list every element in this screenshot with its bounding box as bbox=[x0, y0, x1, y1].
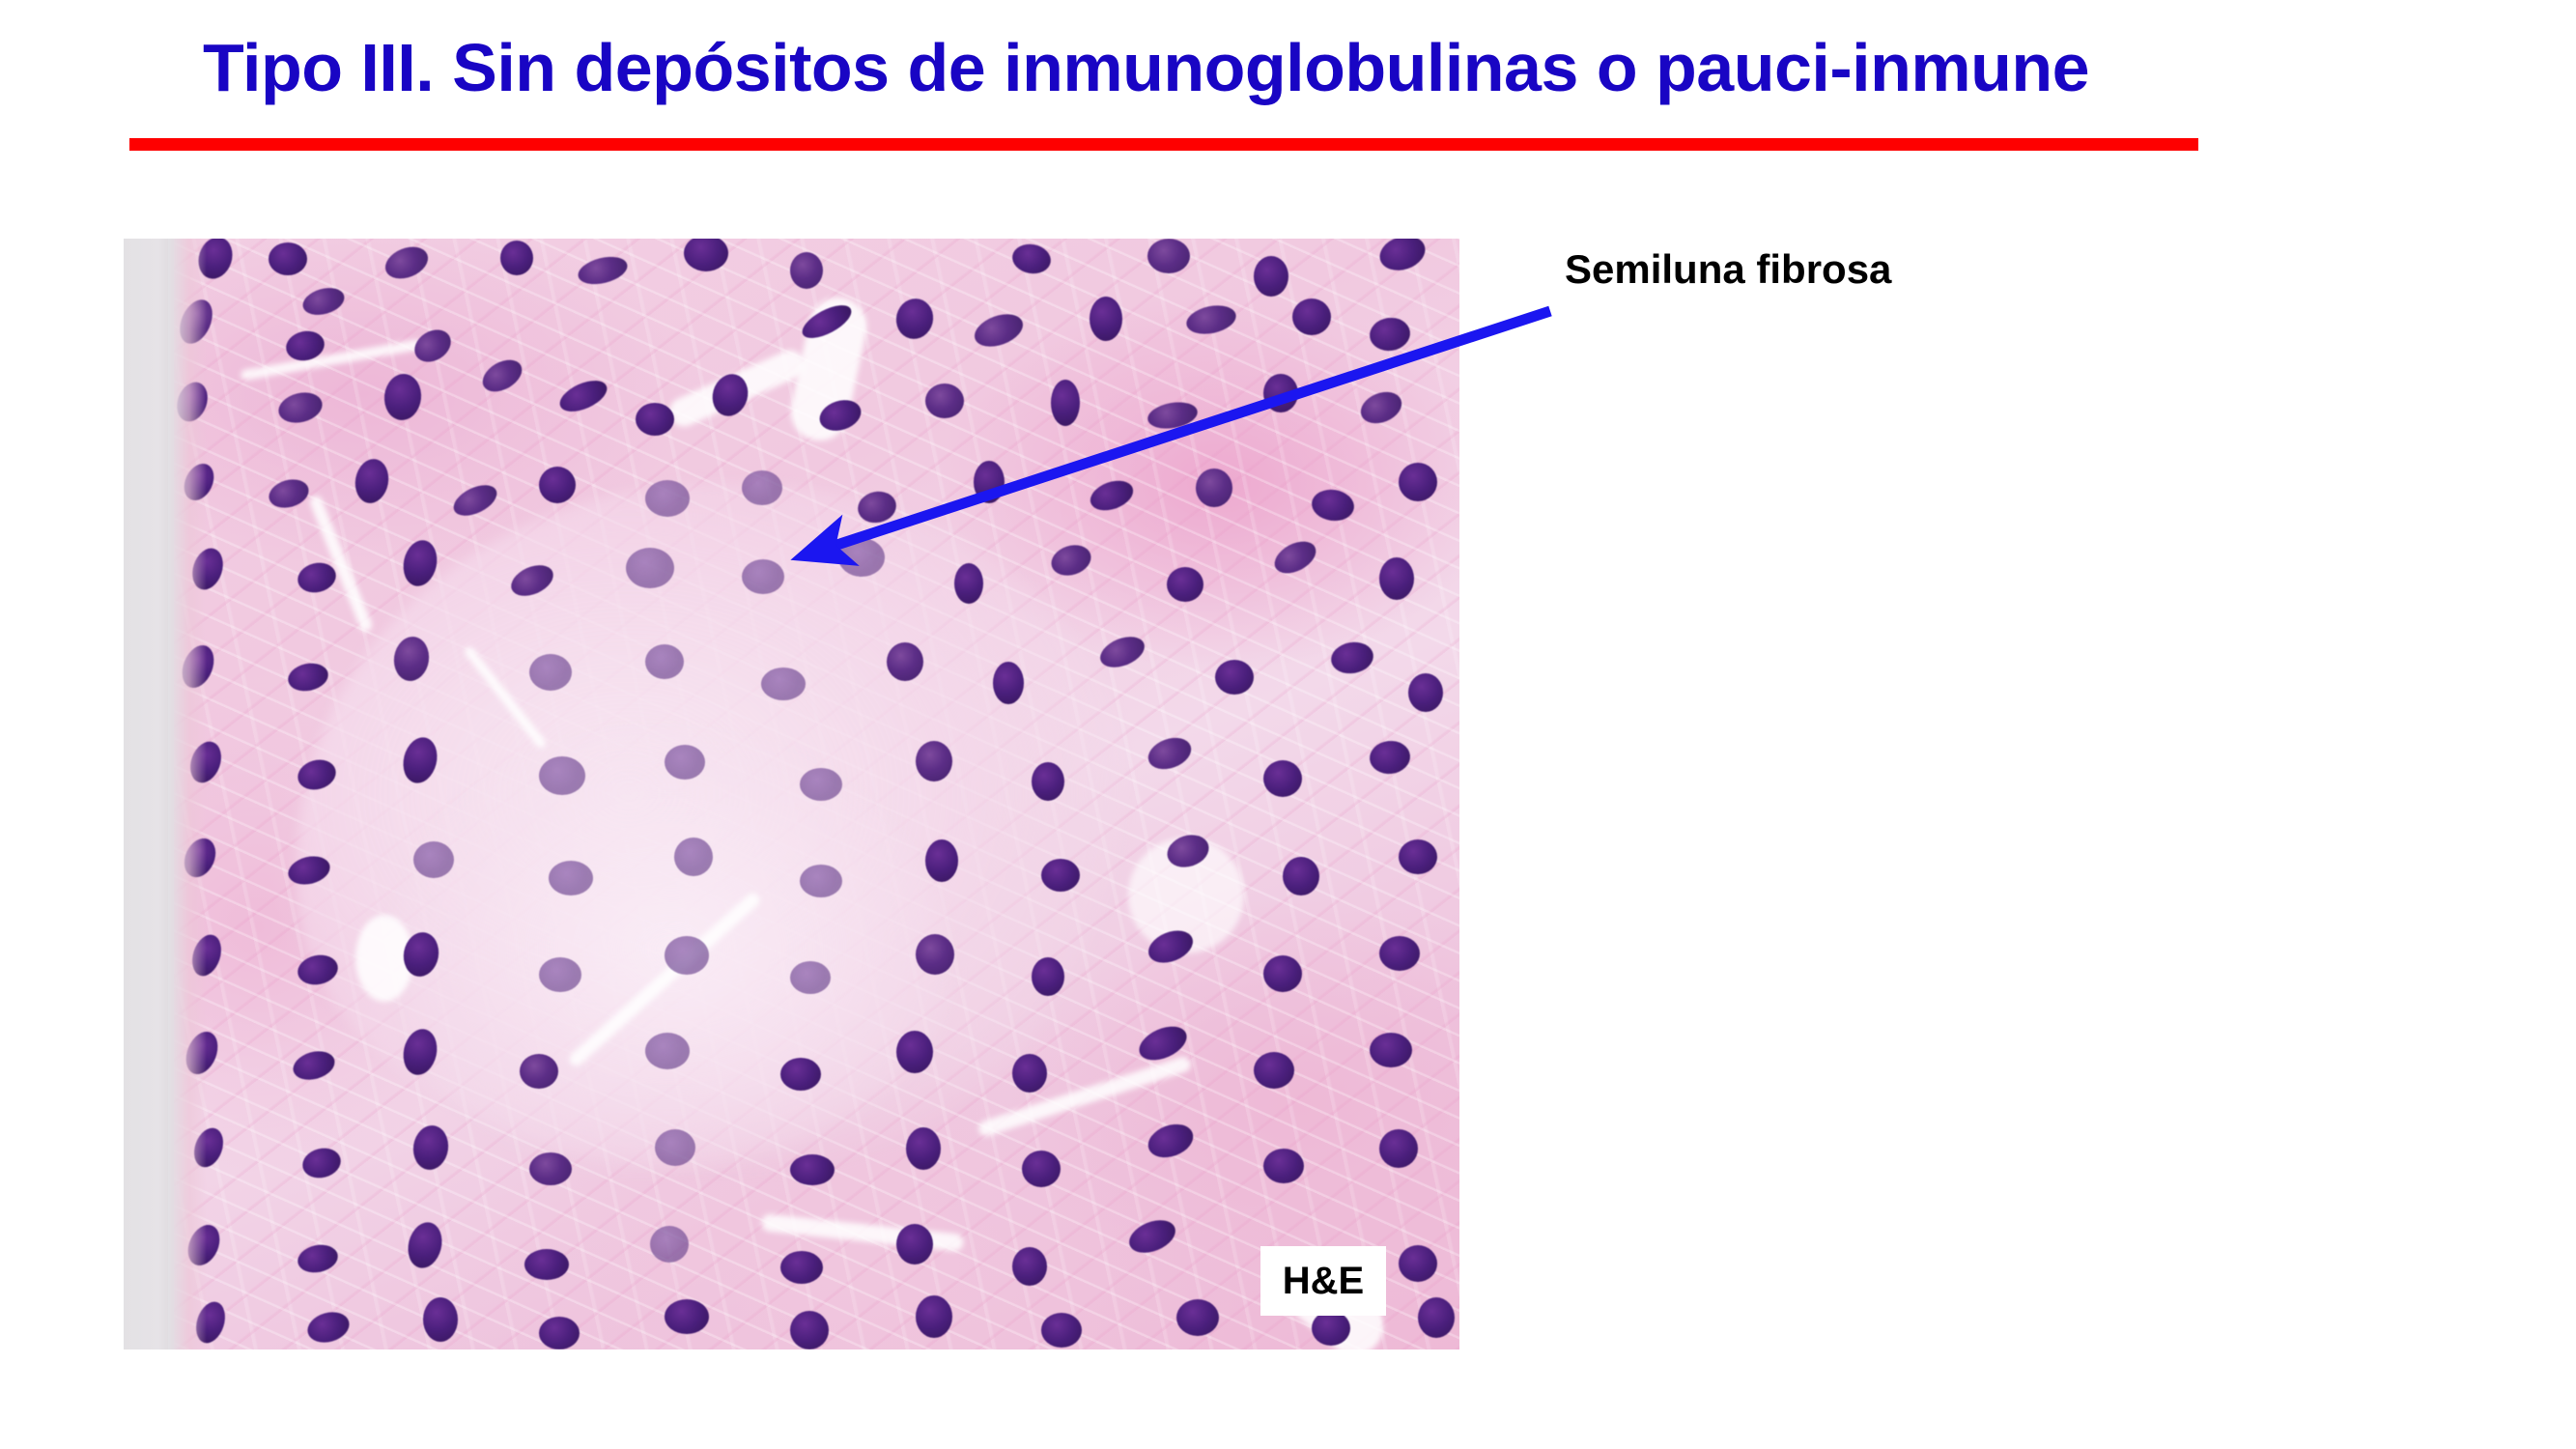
stain-badge: H&E bbox=[1260, 1246, 1386, 1316]
title-underline-rule bbox=[129, 138, 2198, 151]
slide-left-edge bbox=[124, 239, 174, 1350]
histology-micrograph: H&E bbox=[124, 239, 1459, 1350]
nuclei-layer bbox=[124, 239, 1459, 1350]
annotation-label-semiluna-fibrosa: Semiluna fibrosa bbox=[1565, 245, 1891, 294]
stain-badge-label: H&E bbox=[1283, 1262, 1364, 1300]
slide-edge-feather bbox=[168, 239, 207, 1350]
page-title: Tipo III. Sin depósitos de inmunoglobuli… bbox=[203, 27, 2357, 108]
